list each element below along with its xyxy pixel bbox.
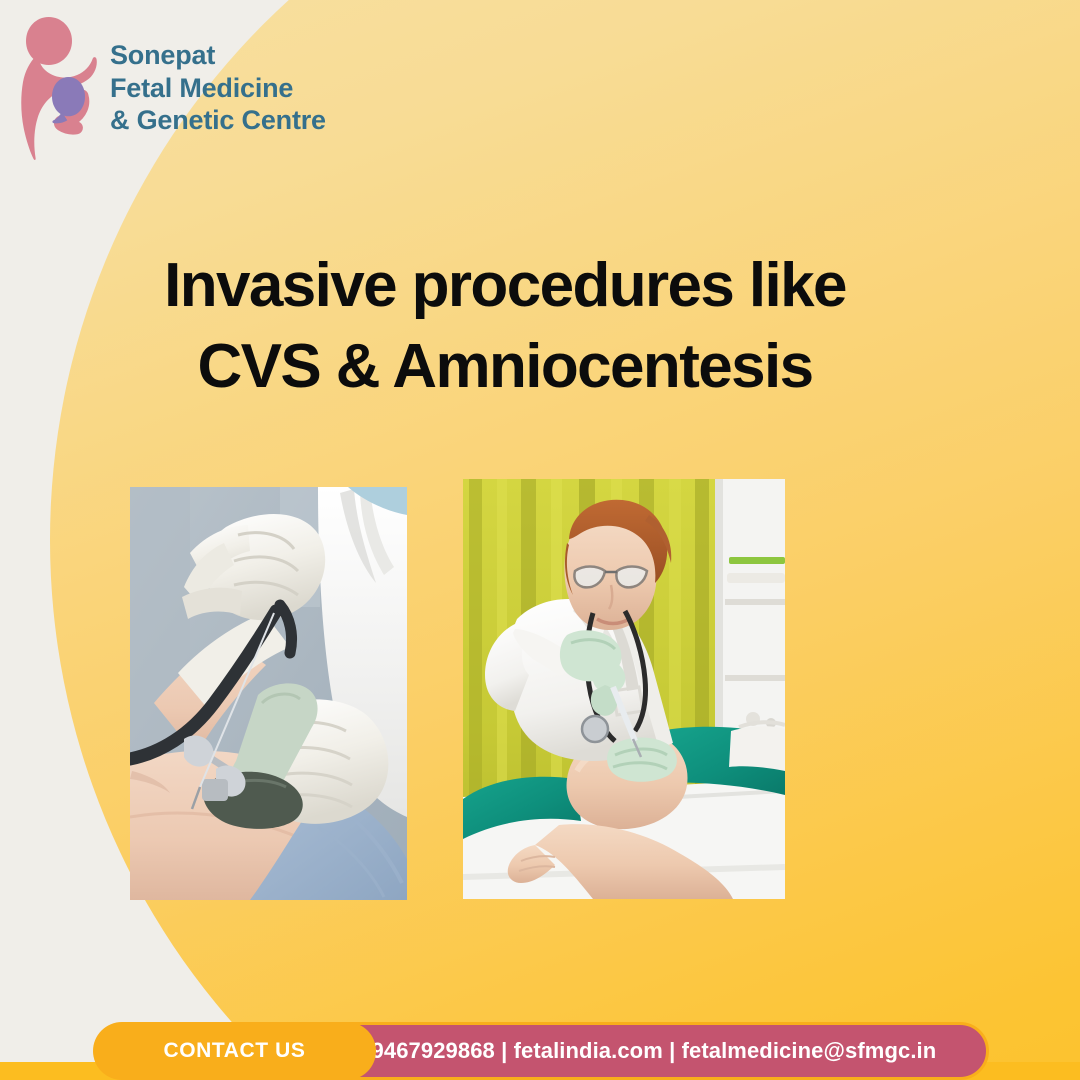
brand-name-line-3: & Genetic Centre: [110, 104, 326, 137]
ultrasound-photo-artwork: [130, 487, 407, 900]
brand-logo: Sonepat Fetal Medicine & Genetic Centre: [10, 14, 326, 162]
ultrasound-guided-needle-photo: [130, 487, 407, 900]
headline-line-1: Invasive procedures like: [0, 246, 1010, 327]
brand-name-line-1: Sonepat: [110, 39, 326, 72]
mother-and-baby-icon: [10, 14, 106, 162]
contact-details[interactable]: +91 9467929868 | fetalindia.com | fetalm…: [275, 1022, 989, 1080]
brand-name-line-2: Fetal Medicine: [110, 72, 326, 105]
poster-canvas: Sonepat Fetal Medicine & Genetic Centre …: [0, 0, 1080, 1080]
contact-us-button[interactable]: CONTACT US: [93, 1022, 376, 1080]
brand-name: Sonepat Fetal Medicine & Genetic Centre: [110, 39, 326, 138]
headline: Invasive procedures like CVS & Amniocent…: [0, 246, 1010, 407]
contact-footer: +91 9467929868 | fetalindia.com | fetalm…: [93, 1022, 989, 1080]
amniocentesis-photo-artwork: [463, 479, 785, 899]
amniocentesis-procedure-photo: [463, 479, 785, 899]
headline-line-2: CVS & Amniocentesis: [0, 327, 1010, 408]
